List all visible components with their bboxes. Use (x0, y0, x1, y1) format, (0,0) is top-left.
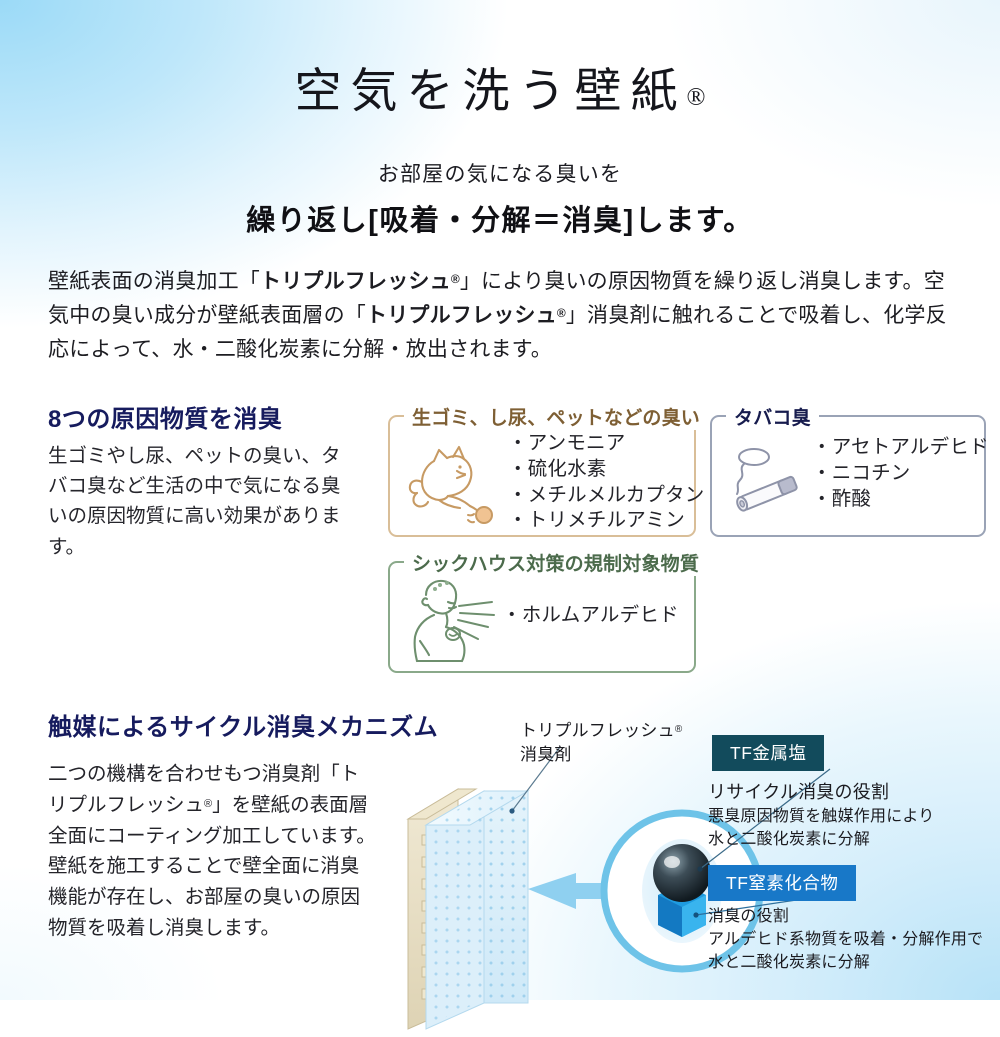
tf-nitrogen-compound-role: 消臭の役割アルデヒド系物質を吸着・分解作用で水と二酸化炭素に分解 (708, 905, 983, 975)
brand-name-2: トリプルフレッシュ (366, 304, 557, 327)
coughing-person-icon (404, 575, 502, 667)
tf-nitro-role-line2: アルデヒド系物質を吸着・分解作用で (708, 931, 983, 948)
odor-item: ・硫化水素 (508, 457, 704, 483)
odor-section-description: 生ゴミやし尿、ペットの臭い、タバコ臭など生活の中で気になる臭いの原因物質に高い効… (48, 441, 348, 562)
product-label-line2: 消臭剤 (520, 745, 572, 764)
tf-nitro-role-line1: 消臭の役割 (708, 908, 789, 925)
wallpaper-cross-section-illustration (400, 707, 1000, 1037)
registered-mark-icon: ® (687, 84, 706, 111)
registered-mark-icon: ® (557, 306, 566, 320)
odor-item: ・メチルメルカプタン (508, 483, 704, 509)
page-title-text: 空気を洗う壁紙 (295, 66, 687, 118)
mech-text-a: 二つの機構を合わせもつ消臭剤「 (48, 763, 340, 785)
odor-item: ・酢酸 (812, 487, 989, 513)
odor-box-kitchen-items: ・アンモニア ・硫化水素 ・メチルメルカプタン ・トリメチルアミン (508, 431, 704, 534)
lead-paragraph: 壁紙表面の消臭加工「トリプルフレッシュ®」により臭いの原因物質を繰り返し消臭しま… (48, 265, 952, 367)
odor-section-heading: 8つの原因物質を消臭 (48, 399, 282, 434)
odor-causes-section: 8つの原因物質を消臭 生ゴミやし尿、ペットの臭い、タバコ臭など生活の中で気になる… (0, 399, 1000, 679)
odor-box-tobacco-legend: タバコ臭 (726, 403, 819, 430)
subtitle-line-1: お部屋の気になる臭いを (0, 158, 1000, 188)
registered-mark-icon: ® (204, 798, 212, 810)
cat-playing-icon (404, 441, 504, 527)
odor-item: ・トリメチルアミン (508, 508, 704, 534)
tf-metal-salt-role: リサイクル消臭の役割 (708, 779, 889, 805)
tf-metal-detail-line2: 水と二酸化炭素に分解 (708, 831, 870, 848)
odor-item: ・ニコチン (812, 461, 989, 487)
odor-box-sickhouse-legend: シックハウス対策の規制対象物質 (404, 549, 707, 576)
tf-metal-salt-detail: 悪臭原因物質を触媒作用により水と二酸化炭素に分解 (708, 805, 934, 851)
page-title: 空気を洗う壁紙® (0, 0, 1000, 121)
odor-box-kitchen-pets: 生ゴミ、し尿、ペットなどの臭い (388, 415, 696, 537)
odor-box-tobacco-items: ・アセトアルデヒド ・ニコチン ・酢酸 (812, 435, 989, 512)
odor-box-tobacco: タバコ臭 ・アセトアルデヒド ・ニコチン ・酢酸 (710, 415, 986, 537)
mechanism-section-description: 二つの機構を合わせもつ消臭剤「トリプルフレッシュ®」を壁紙の表面層全面にコーティ… (48, 759, 378, 944)
product-label-line1: トリプルフレッシュ (520, 721, 675, 740)
odor-box-sickhouse-items: ・ホルムアルデヒド (502, 603, 679, 629)
registered-mark-icon: ® (675, 724, 683, 735)
mechanism-section-heading: 触媒によるサイクル消臭メカニズム (48, 707, 438, 742)
lead-text-1: 壁紙表面の消臭加工「 (48, 270, 260, 293)
badge-tf-nitrogen-compound: TF窒素化合物 (708, 865, 856, 901)
odor-box-kitchen-legend: 生ゴミ、し尿、ペットなどの臭い (404, 403, 708, 430)
subtitle-line-2: 繰り返し[吸着・分解＝消臭]します。 (0, 197, 1000, 239)
mechanism-section: 触媒によるサイクル消臭メカニズム 二つの機構を合わせもつ消臭剤「トリプルフレッシ… (0, 707, 1000, 1037)
mechanism-diagram: トリプルフレッシュ®消臭剤 TF金属塩 リサイクル消臭の役割 悪臭原因物質を触媒… (400, 707, 1000, 1037)
badge-tf-metal-salt: TF金属塩 (712, 735, 824, 771)
product-label: トリプルフレッシュ®消臭剤 (520, 719, 682, 767)
cigarette-icon (724, 443, 810, 523)
tf-nitro-role-line3: 水と二酸化炭素に分解 (708, 954, 870, 971)
odor-item: ・ホルムアルデヒド (502, 603, 679, 629)
odor-item: ・アンモニア (508, 431, 704, 457)
odor-box-sickhouse: シックハウス対策の規制対象物質 (388, 561, 696, 673)
registered-mark-icon: ® (451, 272, 460, 286)
brand-name-1: トリプルフレッシュ (260, 270, 451, 293)
odor-item: ・アセトアルデヒド (812, 435, 989, 461)
tf-metal-detail-line1: 悪臭原因物質を触媒作用により (708, 808, 934, 825)
